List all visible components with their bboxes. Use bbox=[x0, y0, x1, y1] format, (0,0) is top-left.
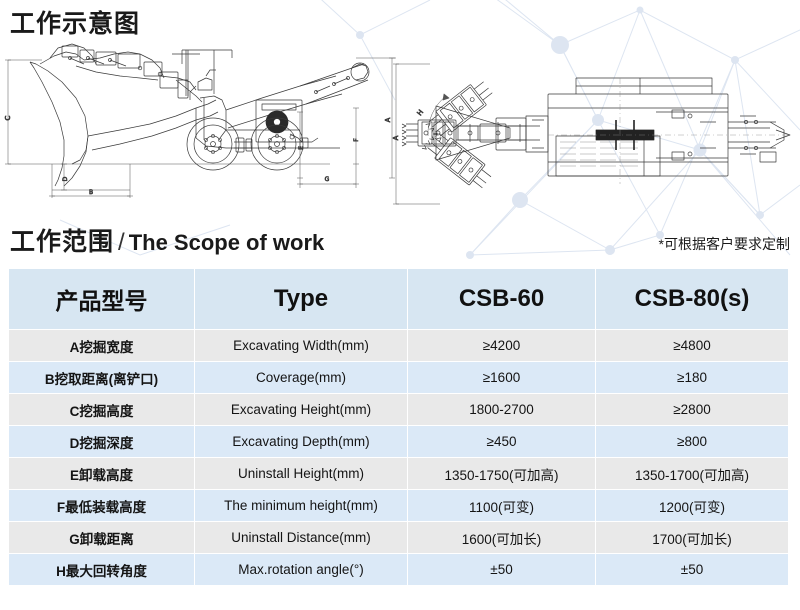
scope-heading-en: The Scope of work bbox=[129, 230, 325, 255]
row-csb80: 1200(可变) bbox=[596, 490, 788, 521]
row-en: Coverage(mm) bbox=[195, 362, 407, 393]
row-csb80: ≥180 bbox=[596, 362, 788, 393]
row-en: Excavating Depth(mm) bbox=[195, 426, 407, 457]
row-label: D挖掘深度 bbox=[9, 426, 194, 457]
row-csb60: ≥1600 bbox=[408, 362, 595, 393]
table-row: H最大回转角度 Max.rotation angle(°) ±50 ±50 bbox=[9, 554, 788, 585]
spec-table: 产品型号 Type CSB-60 CSB-80(s) A挖掘宽度 Excavat… bbox=[8, 268, 789, 586]
header-csb-80s: CSB-80(s) bbox=[596, 269, 788, 329]
svg-text:H: H bbox=[416, 108, 426, 117]
row-csb80: 1350-1700(可加高) bbox=[596, 458, 788, 489]
scope-heading-separator: / bbox=[118, 229, 125, 256]
row-en: Uninstall Distance(mm) bbox=[195, 522, 407, 553]
row-label: H最大回转角度 bbox=[9, 554, 194, 585]
row-en: Uninstall Height(mm) bbox=[195, 458, 407, 489]
row-en: Excavating Height(mm) bbox=[195, 394, 407, 425]
svg-text:E: E bbox=[298, 146, 305, 150]
row-csb80: ≥800 bbox=[596, 426, 788, 457]
row-label: A挖掘宽度 bbox=[9, 330, 194, 361]
row-csb80: ≥2800 bbox=[596, 394, 788, 425]
table-row: G卸载距离 Uninstall Distance(mm) 1600(可加长) 1… bbox=[9, 522, 788, 553]
row-csb80: 1700(可加长) bbox=[596, 522, 788, 553]
svg-text:C: C bbox=[4, 115, 12, 120]
row-label: F最低装载高度 bbox=[9, 490, 194, 521]
header-product-model: 产品型号 bbox=[9, 269, 194, 329]
svg-text:D: D bbox=[62, 176, 69, 181]
diagram-title: 工作示意图 bbox=[10, 4, 140, 40]
row-csb60: ±50 bbox=[408, 554, 595, 585]
row-csb60: 1800-2700 bbox=[408, 394, 595, 425]
row-csb60: 1600(可加长) bbox=[408, 522, 595, 553]
row-csb60: ≥4200 bbox=[408, 330, 595, 361]
table-row: C挖掘高度 Excavating Height(mm) 1800-2700 ≥2… bbox=[9, 394, 788, 425]
customization-note: *可根据客户要求定制 bbox=[659, 234, 790, 254]
page-root: 工作示意图 C bbox=[0, 0, 800, 610]
row-csb60: 1350-1750(可加高) bbox=[408, 458, 595, 489]
table-row: F最低装载高度 The minimum height(mm) 1100(可变) … bbox=[9, 490, 788, 521]
row-en: Max.rotation angle(°) bbox=[195, 554, 407, 585]
row-label: G卸载距离 bbox=[9, 522, 194, 553]
table-row: B挖取距离(离铲口) Coverage(mm) ≥1600 ≥180 bbox=[9, 362, 788, 393]
scope-heading: 工作范围/The Scope of work bbox=[10, 222, 324, 258]
svg-text:F: F bbox=[353, 138, 360, 142]
row-label: E卸载高度 bbox=[9, 458, 194, 489]
table-row: A挖掘宽度 Excavating Width(mm) ≥4200 ≥4800 bbox=[9, 330, 788, 361]
svg-text:B: B bbox=[89, 189, 93, 196]
table-header-row: 产品型号 Type CSB-60 CSB-80(s) bbox=[9, 269, 788, 329]
svg-text:A: A bbox=[392, 135, 400, 140]
row-csb80: ≥4800 bbox=[596, 330, 788, 361]
row-label: B挖取距离(离铲口) bbox=[9, 362, 194, 393]
row-label: C挖掘高度 bbox=[9, 394, 194, 425]
svg-text:A: A bbox=[384, 117, 392, 122]
machine-line-drawing: C bbox=[0, 38, 800, 213]
header-type: Type bbox=[195, 269, 407, 329]
table-row: E卸载高度 Uninstall Height(mm) 1350-1750(可加高… bbox=[9, 458, 788, 489]
row-csb80: ±50 bbox=[596, 554, 788, 585]
row-csb60: 1100(可变) bbox=[408, 490, 595, 521]
row-csb60: ≥450 bbox=[408, 426, 595, 457]
scope-heading-cn: 工作范围 bbox=[10, 228, 114, 256]
table-row: D挖掘深度 Excavating Depth(mm) ≥450 ≥800 bbox=[9, 426, 788, 457]
svg-text:G: G bbox=[325, 176, 330, 183]
row-en: The minimum height(mm) bbox=[195, 490, 407, 521]
row-en: Excavating Width(mm) bbox=[195, 330, 407, 361]
header-csb-60: CSB-60 bbox=[408, 269, 595, 329]
